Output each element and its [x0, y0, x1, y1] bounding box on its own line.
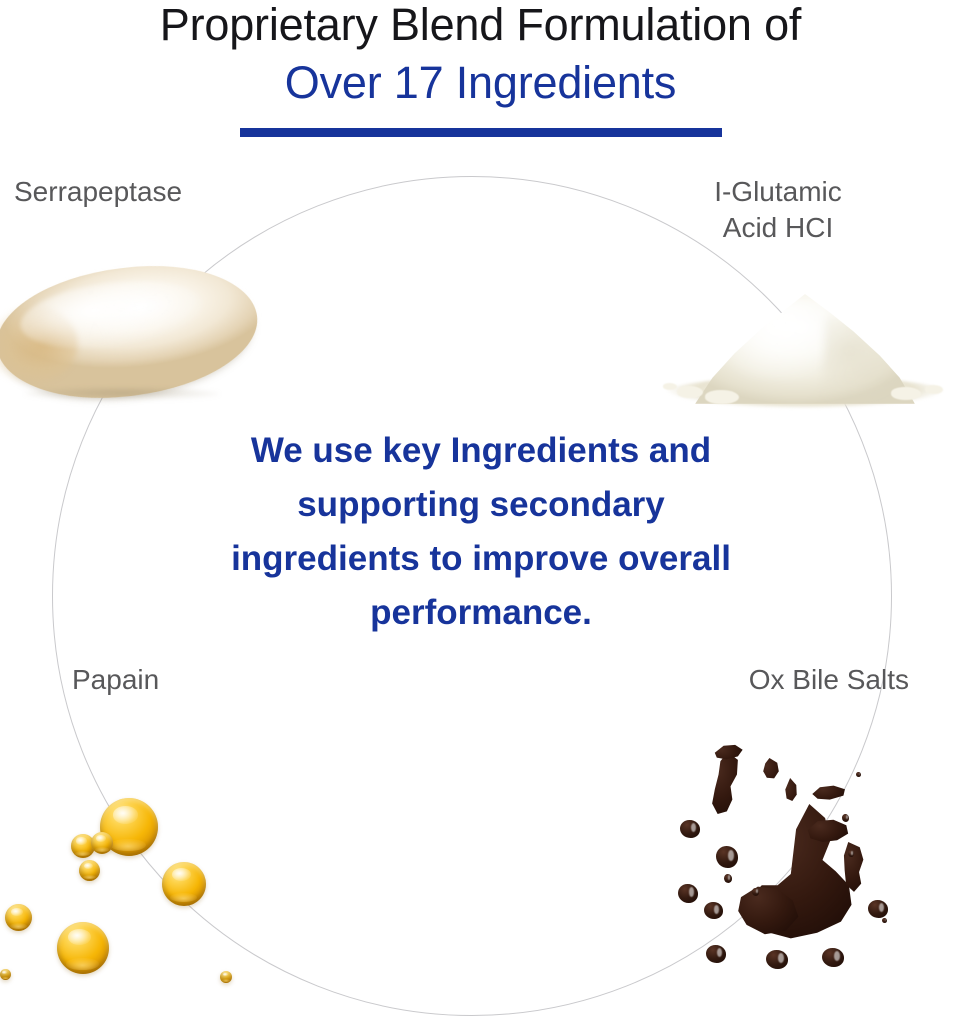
center-statement: We use key Ingredients and supporting se… — [231, 424, 731, 640]
oil-droplet — [162, 862, 206, 906]
ingredient-label-ox-bile-salts: Ox Bile Salts — [749, 662, 909, 698]
powder-speck — [925, 385, 943, 394]
page-title-line-2: Over 17 Ingredients — [0, 57, 961, 109]
title-underline-rule — [240, 128, 722, 137]
bile-droplet — [724, 874, 732, 883]
powder-cone — [695, 294, 915, 404]
page-title-line-1: Proprietary Blend Formulation of — [0, 0, 961, 50]
ingredient-label-papain: Papain — [72, 662, 159, 698]
oil-droplet — [91, 832, 113, 854]
bile-droplet — [680, 820, 700, 838]
oil-droplet — [0, 969, 11, 980]
white-powder-pile-image — [655, 276, 955, 416]
bile-droplet — [752, 888, 759, 896]
cocoon-ground-shadow — [24, 388, 220, 400]
infographic-canvas: Proprietary Blend Formulation of Over 17… — [0, 0, 961, 1024]
dark-bile-splatter-image — [672, 742, 958, 982]
bile-droplet — [704, 902, 723, 919]
bile-teardrop-mid-2 — [780, 778, 802, 810]
bile-droplet — [766, 950, 788, 969]
powder-speck — [677, 386, 703, 398]
bile-droplet — [822, 948, 844, 967]
oil-droplet — [220, 971, 232, 983]
oil-droplet — [5, 904, 32, 931]
bile-droplet — [706, 945, 726, 963]
bile-droplet — [856, 772, 861, 777]
ingredient-label-serrapeptase: Serrapeptase — [14, 174, 182, 210]
bile-streak-upper-left — [702, 752, 748, 818]
bile-droplet — [848, 850, 854, 857]
silkworm-cocoon-image — [0, 252, 273, 412]
powder-speck — [705, 390, 739, 404]
bile-droplet — [868, 900, 888, 918]
bile-teardrop-mid — [758, 758, 784, 788]
powder-speck — [891, 387, 921, 400]
bile-streak-right-upper — [810, 784, 848, 804]
header: Proprietary Blend Formulation of Over 17… — [0, 0, 961, 137]
bile-droplet — [842, 814, 849, 822]
bile-droplet — [678, 884, 698, 903]
ingredient-label-l-glutamic-acid-hcl: I-Glutamic Acid HCI — [663, 174, 893, 246]
bile-droplet — [882, 918, 887, 923]
powder-speck — [663, 383, 677, 390]
oil-droplet — [57, 922, 109, 974]
bile-droplet — [716, 846, 738, 868]
golden-oil-droplets-image — [0, 762, 276, 1014]
oil-droplet — [79, 860, 100, 881]
